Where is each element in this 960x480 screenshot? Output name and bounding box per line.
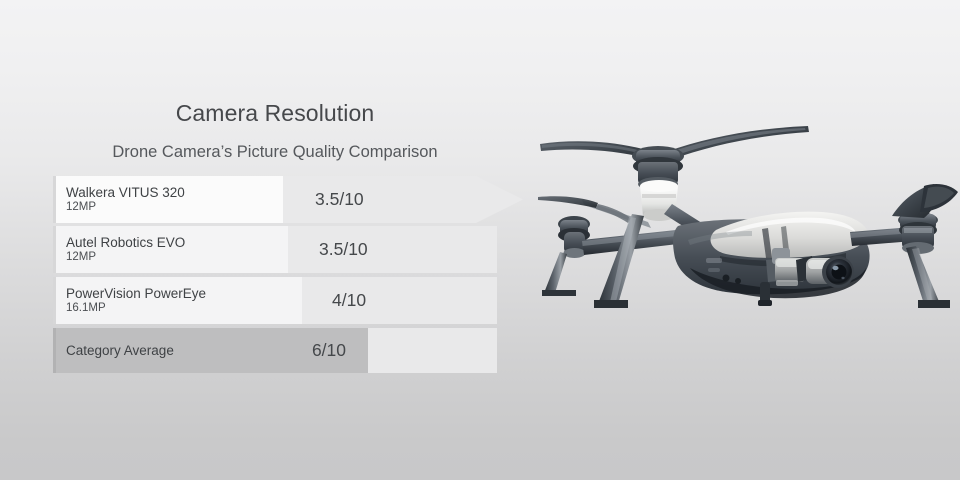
product-spec: 12MP xyxy=(66,201,283,215)
category-average-bar: Category Average 6/10 xyxy=(53,328,368,373)
table-row-label-cell: PowerVision PowerEye 16.1MP xyxy=(53,277,302,324)
table-row-label-cell: Autel Robotics EVO 12MP xyxy=(53,226,288,273)
comparison-table: Walkera VITUS 320 12MP 3.5/10 Autel Robo… xyxy=(53,176,523,376)
table-row[interactable]: PowerVision PowerEye 16.1MP 4/10 xyxy=(53,277,497,324)
table-row-score-cell: 4/10 xyxy=(302,277,497,324)
category-average-score: 6/10 xyxy=(312,340,346,361)
table-row-score-cell: 3.5/10 xyxy=(288,226,497,273)
product-score: 3.5/10 xyxy=(319,239,368,260)
table-row-label-cell: Walkera VITUS 320 12MP xyxy=(53,176,283,223)
product-score: 3.5/10 xyxy=(315,176,364,223)
category-average-label: Category Average xyxy=(66,343,174,358)
page-title: Camera Resolution xyxy=(55,100,495,127)
product-name: Autel Robotics EVO xyxy=(66,235,288,251)
page-subtitle: Drone Camera’s Picture Quality Compariso… xyxy=(55,143,495,162)
drone-quadcopter-image xyxy=(520,108,960,338)
infographic-canvas: Camera Resolution Drone Camera’s Picture… xyxy=(0,0,960,480)
table-row-category-average: Category Average 6/10 xyxy=(53,328,497,373)
product-name: Walkera VITUS 320 xyxy=(66,185,283,201)
product-score: 4/10 xyxy=(332,290,366,311)
product-name: PowerVision PowerEye xyxy=(66,286,302,302)
product-spec: 12MP xyxy=(66,251,288,265)
category-average-track xyxy=(368,328,497,373)
table-row[interactable]: Walkera VITUS 320 12MP 3.5/10 xyxy=(53,176,523,223)
table-row-score-cell-arrow: 3.5/10 xyxy=(283,176,523,223)
table-row[interactable]: Autel Robotics EVO 12MP 3.5/10 xyxy=(53,226,497,273)
product-spec: 16.1MP xyxy=(66,302,302,316)
